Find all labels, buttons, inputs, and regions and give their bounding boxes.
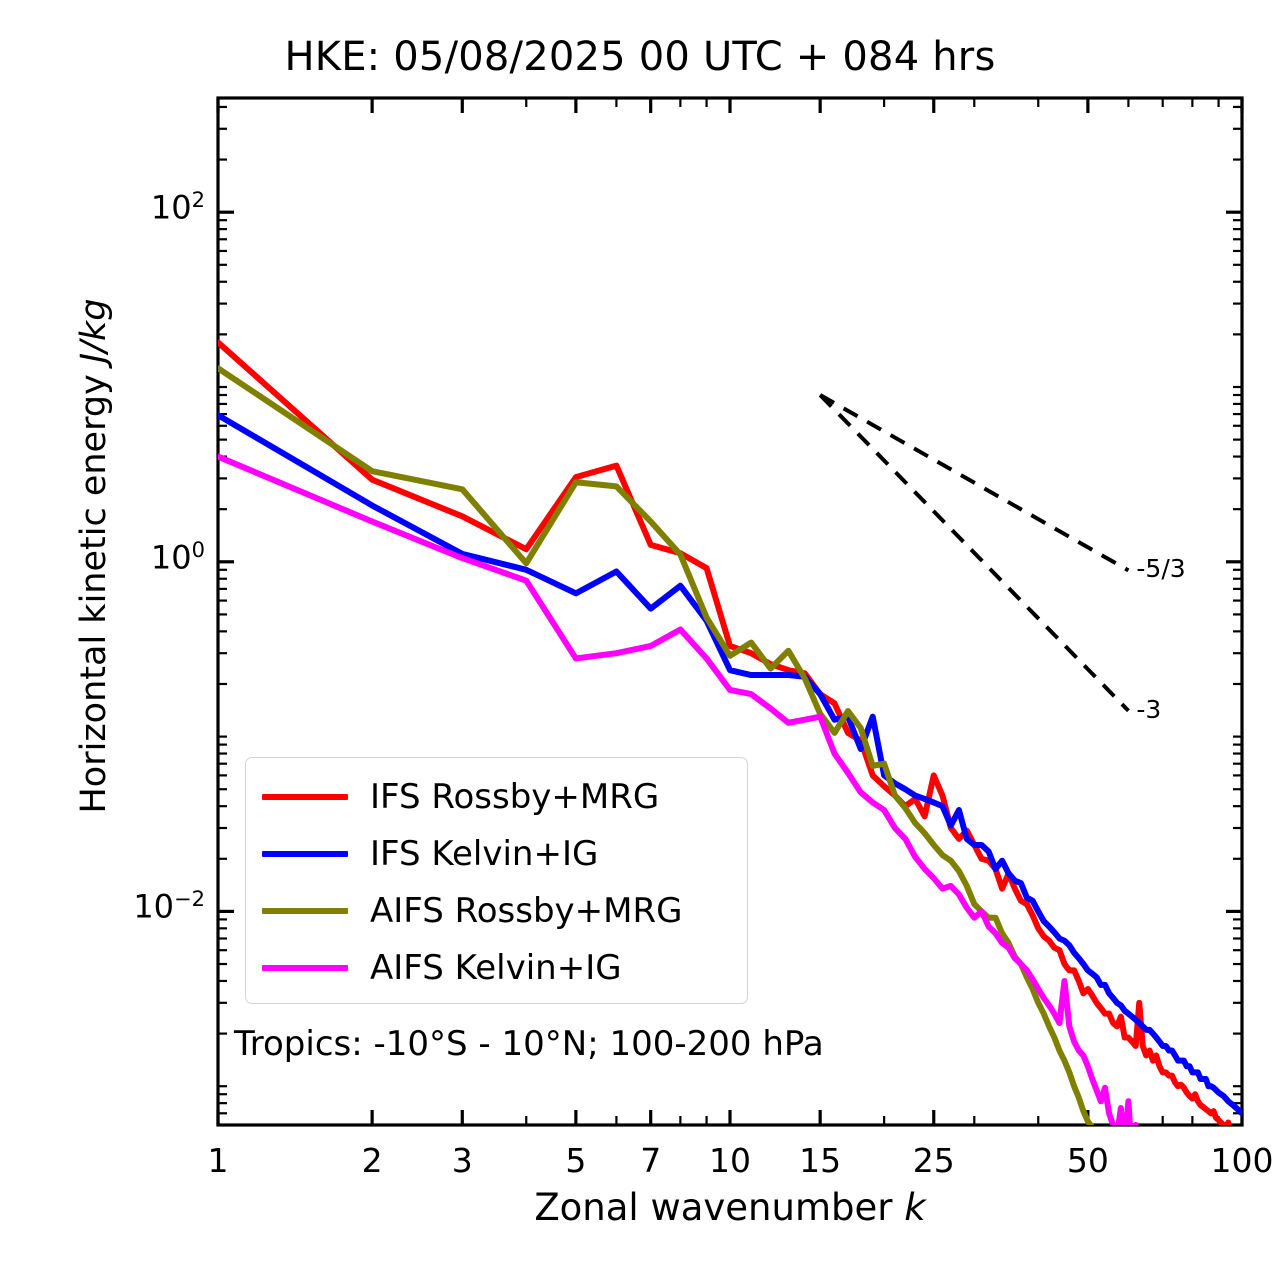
x-axis-label-symbol: k <box>904 1186 925 1229</box>
legend-swatch-icon <box>262 851 348 857</box>
legend-swatch-icon <box>262 965 348 971</box>
legend: IFS Rossby+MRGIFS Kelvin+IGAIFS Rossby+M… <box>245 757 748 1004</box>
y-tick-label: 10−2 <box>0 889 205 923</box>
x-axis-label-main: Zonal wavenumber <box>534 1186 892 1229</box>
x-tick-label: 25 <box>874 1141 994 1180</box>
legend-swatch-icon <box>262 794 348 800</box>
slope-guide-line--3 <box>820 395 1128 711</box>
y-tick-label: 100 <box>0 540 205 574</box>
x-axis-label: Zonal wavenumber k <box>218 1186 1242 1229</box>
slope-guide-line--5-3 <box>820 395 1128 570</box>
y-axis-label-unit: J/kg <box>74 298 114 363</box>
slope-label--5-3: -5/3 <box>1136 554 1185 583</box>
slope-label--3: -3 <box>1136 695 1161 724</box>
legend-label: IFS Kelvin+IG <box>370 834 598 874</box>
y-tick-label: 102 <box>0 190 205 224</box>
x-tick-label: 100 <box>1182 1141 1280 1180</box>
legend-item-ifs-kelvin-ig[interactable]: IFS Kelvin+IG <box>262 831 598 877</box>
figure-canvas: HKE: 05/08/2025 00 UTC + 084 hrs Horizon… <box>0 0 1280 1288</box>
legend-item-aifs-rossby-mrg[interactable]: AIFS Rossby+MRG <box>262 888 682 934</box>
legend-swatch-icon <box>262 908 348 914</box>
legend-label: AIFS Rossby+MRG <box>370 891 682 931</box>
legend-item-aifs-kelvin-ig[interactable]: AIFS Kelvin+IG <box>262 945 622 991</box>
x-tick-label: 50 <box>1028 1141 1148 1180</box>
region-annotation: Tropics: -10°S - 10°N; 100-200 hPa <box>234 1024 824 1064</box>
x-tick-label: 15 <box>760 1141 880 1180</box>
legend-label: IFS Rossby+MRG <box>370 777 659 817</box>
legend-item-ifs-rossby-mrg[interactable]: IFS Rossby+MRG <box>262 774 659 820</box>
x-tick-label: 3 <box>402 1141 522 1180</box>
legend-label: AIFS Kelvin+IG <box>370 948 622 988</box>
y-axis-label-main: Horizontal kinetic energy <box>74 374 114 813</box>
x-tick-label: 1 <box>158 1141 278 1180</box>
